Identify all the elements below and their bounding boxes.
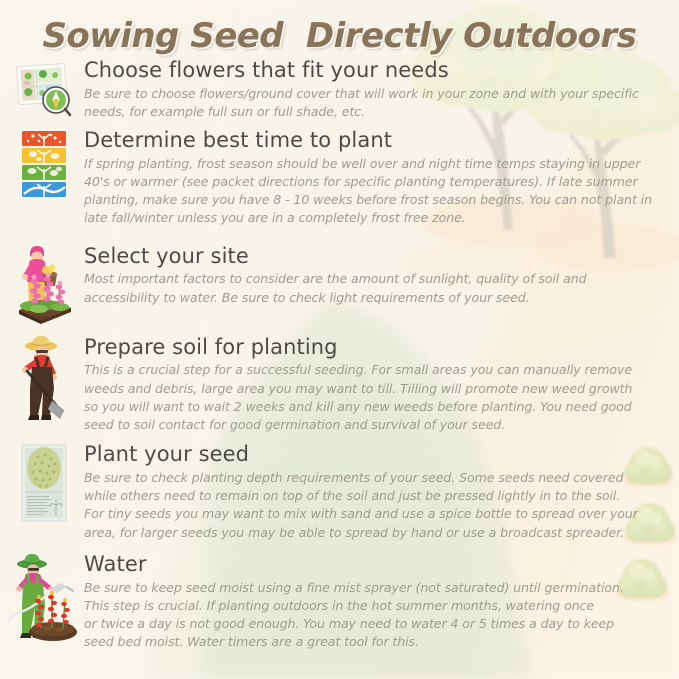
step-icon-cell bbox=[8, 440, 80, 524]
season-autumn-band bbox=[22, 165, 66, 180]
step-heading: Water bbox=[84, 552, 667, 578]
red-flower-spikes bbox=[35, 591, 70, 629]
step-body: Most important factors to consider are t… bbox=[84, 270, 667, 307]
step-text-cell: Choose flowers that fit your needs Be su… bbox=[80, 58, 667, 121]
step-item-determine-time: Determine best time to plant If spring p… bbox=[0, 128, 679, 228]
step-icon-cell bbox=[8, 236, 80, 324]
infographic-poster: Sowing Seed Directly Outdoors bbox=[0, 0, 679, 679]
step-heading: Choose flowers that fit your needs bbox=[84, 58, 667, 84]
step-item-prepare-soil: Prepare soil for planting This is a cruc… bbox=[0, 331, 679, 435]
step-icon-cell bbox=[8, 548, 80, 642]
season-summer-band bbox=[22, 148, 66, 163]
step-text-cell: Select your site Most important factors … bbox=[80, 236, 667, 307]
boots bbox=[20, 633, 31, 638]
packet-seed-cluster bbox=[27, 447, 61, 489]
step-body: Be sure to check planting depth requirem… bbox=[84, 469, 667, 542]
season-winter-band bbox=[22, 182, 66, 197]
magnifier-compass bbox=[43, 87, 70, 115]
seed-packet-icon bbox=[14, 442, 74, 524]
sunglasses bbox=[36, 350, 48, 353]
step-body: Be sure to choose flowers/ground cover t… bbox=[84, 85, 667, 122]
steps-list: Choose flowers that fit your needs Be su… bbox=[0, 58, 679, 652]
step-heading: Determine best time to plant bbox=[84, 128, 667, 154]
step-text-cell: Water Be sure to keep seed moist using a… bbox=[80, 548, 667, 652]
step-item-choose-flowers: Choose flowers that fit your needs Be su… bbox=[0, 58, 679, 121]
step-text-cell: Prepare soil for planting This is a cruc… bbox=[80, 331, 667, 435]
step-text-cell: Determine best time to plant If spring p… bbox=[80, 128, 667, 228]
gardener-with-shovel-icon bbox=[14, 333, 74, 423]
step-body: If spring planting, frost season should … bbox=[84, 155, 667, 228]
step-icon-cell bbox=[8, 58, 80, 116]
step-heading: Select your site bbox=[84, 244, 667, 270]
step-heading: Prepare soil for planting bbox=[84, 335, 667, 361]
page-title: Sowing Seed Directly Outdoors bbox=[42, 16, 636, 56]
step-item-water: Water Be sure to keep seed moist using a… bbox=[0, 548, 679, 652]
title-bar: Sowing Seed Directly Outdoors bbox=[0, 0, 679, 56]
gardener-watering-plants-icon bbox=[7, 550, 81, 642]
season-spring-band bbox=[22, 131, 66, 146]
foxglove-spikes bbox=[30, 272, 65, 305]
sunglasses bbox=[28, 568, 39, 571]
step-item-plant-seed: Plant your seed Be sure to check plantin… bbox=[0, 440, 679, 542]
four-seasons-icon bbox=[20, 130, 68, 198]
step-body: This is a crucial step for a successful … bbox=[84, 361, 667, 434]
step-heading: Plant your seed bbox=[84, 442, 667, 468]
step-text-cell: Plant your seed Be sure to check plantin… bbox=[80, 440, 667, 542]
boots bbox=[28, 415, 39, 420]
step-item-select-site: Select your site Most important factors … bbox=[0, 236, 679, 324]
gardener-planting-flowerbed-icon bbox=[13, 238, 75, 324]
step-icon-cell bbox=[8, 331, 80, 423]
step-icon-cell bbox=[8, 128, 80, 198]
garden-plan-map-icon bbox=[13, 60, 75, 116]
step-body: Be sure to keep seed moist using a fine … bbox=[84, 579, 667, 652]
